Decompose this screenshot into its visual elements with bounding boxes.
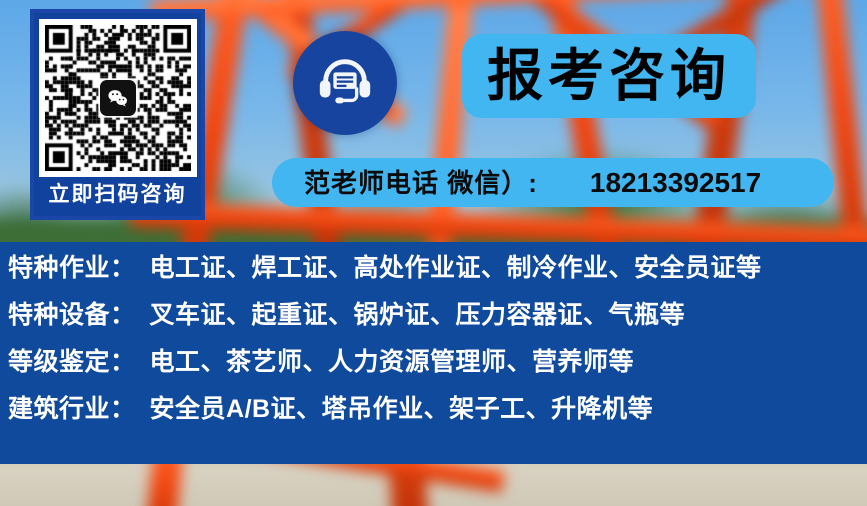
promotional-poster: 立即扫码咨询 报考咨询 范老师电话 微信）: 18213392517 特种作业：…	[0, 0, 867, 506]
contact-phone-label: 范老师电话 微信）:	[304, 170, 538, 196]
service-items-value: 电工证、焊工证、高处作业证、制冷作业、安全员证等	[150, 256, 762, 281]
wechat-icon	[100, 80, 136, 116]
consultation-title-label: 报考咨询	[487, 48, 731, 104]
services-info-band: 特种作业： 电工证、焊工证、高处作业证、制冷作业、安全员证等 特种设备： 叉车证…	[0, 242, 867, 464]
headset-support-icon	[293, 31, 397, 135]
service-items-value: 电工、茶艺师、人力资源管理师、营养师等	[150, 350, 635, 375]
qr-caption: 立即扫码咨询	[49, 184, 187, 205]
service-row-construction-industry: 建筑行业： 安全员A/B证、塔吊作业、架子工、升降机等	[8, 397, 867, 444]
contact-phone-number[interactable]: 18213392517	[590, 169, 761, 197]
service-category-label: 特种设备：	[8, 303, 136, 328]
service-items-value: 安全员A/B证、塔吊作业、架子工、升降机等	[150, 397, 654, 422]
service-category-label: 特种作业：	[8, 256, 136, 281]
qrcode-icon[interactable]	[39, 19, 197, 177]
service-category-label: 建筑行业：	[8, 397, 136, 422]
service-row-special-operations: 特种作业： 电工证、焊工证、高处作业证、制冷作业、安全员证等	[8, 256, 867, 303]
consultation-title-pill: 报考咨询	[462, 34, 756, 118]
service-row-grade-certification: 等级鉴定： 电工、茶艺师、人力资源管理师、营养师等	[8, 350, 867, 397]
qr-code-card[interactable]: 立即扫码咨询	[30, 9, 205, 220]
service-category-label: 等级鉴定：	[8, 350, 136, 375]
service-items-value: 叉车证、起重证、锅炉证、压力容器证、气瓶等	[150, 303, 686, 328]
service-row-special-equipment: 特种设备： 叉车证、起重证、锅炉证、压力容器证、气瓶等	[8, 303, 867, 350]
contact-phone-pill[interactable]: 范老师电话 微信）: 18213392517	[272, 158, 834, 207]
